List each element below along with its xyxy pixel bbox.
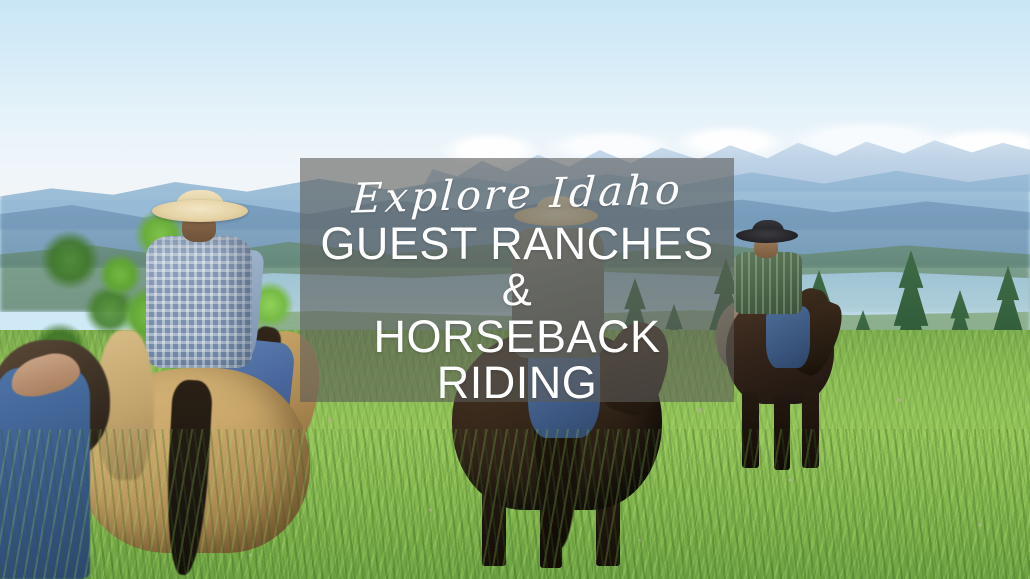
headline-line-1: GUEST RANCHES & <box>300 221 734 314</box>
rider-right-jeans <box>766 306 810 368</box>
rider-right-cowboy-hat <box>736 228 798 243</box>
banner-copy: Explore Idaho GUEST RANCHES & HORSEBACK … <box>300 158 734 402</box>
foreground-grass <box>0 429 1030 579</box>
page-title: GUEST RANCHES & HORSEBACK RIDING <box>300 221 734 406</box>
eyebrow-script-text: Explore Idaho <box>350 169 683 219</box>
rider-left-shirt <box>146 236 252 368</box>
headline-line-2: HORSEBACK <box>300 314 734 360</box>
promo-banner: Explore Idaho GUEST RANCHES & HORSEBACK … <box>0 0 1030 579</box>
headline-line-3: RIDING <box>300 360 734 406</box>
rider-left-straw-hat <box>152 200 248 222</box>
rider-right-shirt <box>734 252 802 314</box>
